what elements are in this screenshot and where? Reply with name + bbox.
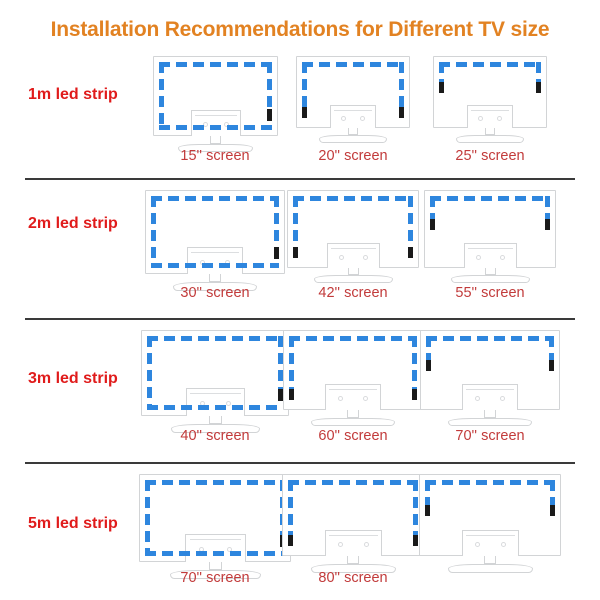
tv-panel-lip bbox=[191, 252, 239, 253]
row-divider bbox=[25, 462, 575, 464]
tv-stand-base bbox=[448, 418, 532, 426]
tv-stand-neck bbox=[485, 128, 495, 135]
tv-size-caption: 70'' screen bbox=[145, 570, 285, 586]
tv-illustration-3 bbox=[419, 474, 561, 573]
tv-center-panel bbox=[330, 105, 376, 128]
tv-size-caption: 30'' screen bbox=[145, 285, 285, 301]
tv-center-panel bbox=[327, 243, 380, 268]
tv-panel-lip bbox=[331, 248, 376, 249]
tv-illustration-2 bbox=[283, 330, 423, 426]
tv-panel-dot bbox=[200, 401, 205, 406]
tv-stand-base bbox=[311, 418, 395, 426]
tv-stand-neck bbox=[347, 556, 359, 564]
tv-center-panel bbox=[462, 530, 519, 556]
tv-panel-dot bbox=[363, 396, 368, 401]
infographic-page: Installation Recommendations for Differe… bbox=[0, 0, 600, 600]
tv-stand-neck bbox=[485, 268, 496, 275]
tv-stand-neck bbox=[484, 556, 496, 564]
tv-panel-dot bbox=[360, 116, 365, 121]
tv-center-panel bbox=[185, 534, 246, 562]
tv-panel-dot bbox=[341, 116, 346, 121]
tv-panel-dot bbox=[363, 255, 368, 260]
tv-illustration-1 bbox=[153, 56, 278, 152]
tv-panel-dot bbox=[501, 542, 506, 547]
tv-illustration-1 bbox=[141, 330, 289, 433]
tv-panel-dot bbox=[224, 122, 229, 127]
tv-panel-lip bbox=[329, 535, 377, 536]
tv-panel-dot bbox=[475, 396, 480, 401]
strip-length-label: 3m led strip bbox=[28, 370, 158, 388]
tv-size-caption: 20'' screen bbox=[283, 148, 423, 164]
tv-stand-neck bbox=[484, 410, 496, 418]
tv-stand-neck bbox=[209, 416, 222, 424]
strip-length-label: 1m led strip bbox=[28, 86, 158, 104]
tv-illustration-2 bbox=[282, 474, 424, 573]
tv-center-panel bbox=[325, 530, 382, 556]
tv-center-panel bbox=[462, 384, 518, 410]
tv-center-panel bbox=[464, 243, 517, 268]
tv-panel-dot bbox=[203, 122, 208, 127]
tv-panel-lip bbox=[471, 110, 510, 111]
tv-illustration-1 bbox=[139, 474, 291, 579]
tv-stand-base bbox=[314, 275, 393, 283]
tv-size-caption: 60'' screen bbox=[283, 428, 423, 444]
tv-panel-dot bbox=[364, 542, 369, 547]
tv-panel-lip bbox=[190, 539, 242, 540]
tv-center-panel bbox=[186, 388, 245, 416]
tv-stand-neck bbox=[347, 410, 359, 418]
tv-panel-lip bbox=[466, 389, 514, 390]
tv-panel-lip bbox=[195, 115, 237, 116]
tv-size-caption: 25'' screen bbox=[420, 148, 560, 164]
row-divider bbox=[25, 318, 575, 320]
tv-stand-neck bbox=[209, 562, 222, 570]
tv-panel-dot bbox=[478, 116, 483, 121]
tv-center-panel bbox=[187, 247, 243, 274]
tv-panel-dot bbox=[339, 255, 344, 260]
tv-stand-neck bbox=[348, 268, 359, 275]
row-divider bbox=[25, 178, 575, 180]
tv-panel-dot bbox=[200, 260, 205, 265]
tv-panel-dot bbox=[227, 547, 232, 552]
tv-panel-dot bbox=[497, 116, 502, 121]
tv-center-panel bbox=[325, 384, 381, 410]
tv-panel-dot bbox=[338, 396, 343, 401]
tv-panel-lip bbox=[334, 110, 373, 111]
tv-illustration-3 bbox=[424, 190, 556, 283]
tv-panel-dot bbox=[475, 542, 480, 547]
tv-illustration-2 bbox=[296, 56, 410, 143]
tv-stand-neck bbox=[348, 128, 358, 135]
page-title: Installation Recommendations for Differe… bbox=[0, 18, 600, 42]
tv-panel-lip bbox=[466, 535, 514, 536]
tv-stand-base bbox=[319, 135, 387, 143]
tv-panel-dot bbox=[199, 547, 204, 552]
tv-center-panel bbox=[467, 105, 513, 128]
tv-panel-dot bbox=[225, 260, 230, 265]
tv-size-caption: 42'' screen bbox=[283, 285, 423, 301]
tv-panel-dot bbox=[476, 255, 481, 260]
tv-panel-dot bbox=[338, 542, 343, 547]
tv-panel-lip bbox=[329, 389, 377, 390]
tv-illustration-3 bbox=[433, 56, 547, 143]
tv-stand-neck bbox=[210, 136, 221, 144]
tv-illustration-3 bbox=[420, 330, 560, 426]
tv-stand-base bbox=[451, 275, 530, 283]
tv-panel-dot bbox=[226, 401, 231, 406]
tv-stand-base bbox=[456, 135, 524, 143]
tv-size-caption: 15'' screen bbox=[145, 148, 285, 164]
tv-panel-dot bbox=[500, 255, 505, 260]
tv-panel-lip bbox=[468, 248, 513, 249]
tv-stand-base bbox=[448, 564, 533, 573]
tv-size-caption: 40'' screen bbox=[145, 428, 285, 444]
tv-center-panel bbox=[191, 110, 241, 136]
strip-length-label: 2m led strip bbox=[28, 215, 158, 233]
tv-illustration-2 bbox=[287, 190, 419, 283]
tv-size-caption: 80'' screen bbox=[283, 570, 423, 586]
tv-panel-lip bbox=[190, 393, 240, 394]
tv-size-caption: 70'' screen bbox=[420, 428, 560, 444]
tv-size-caption: 55'' screen bbox=[420, 285, 560, 301]
tv-panel-dot bbox=[500, 396, 505, 401]
tv-stand-neck bbox=[209, 274, 221, 282]
tv-illustration-1 bbox=[145, 190, 285, 291]
